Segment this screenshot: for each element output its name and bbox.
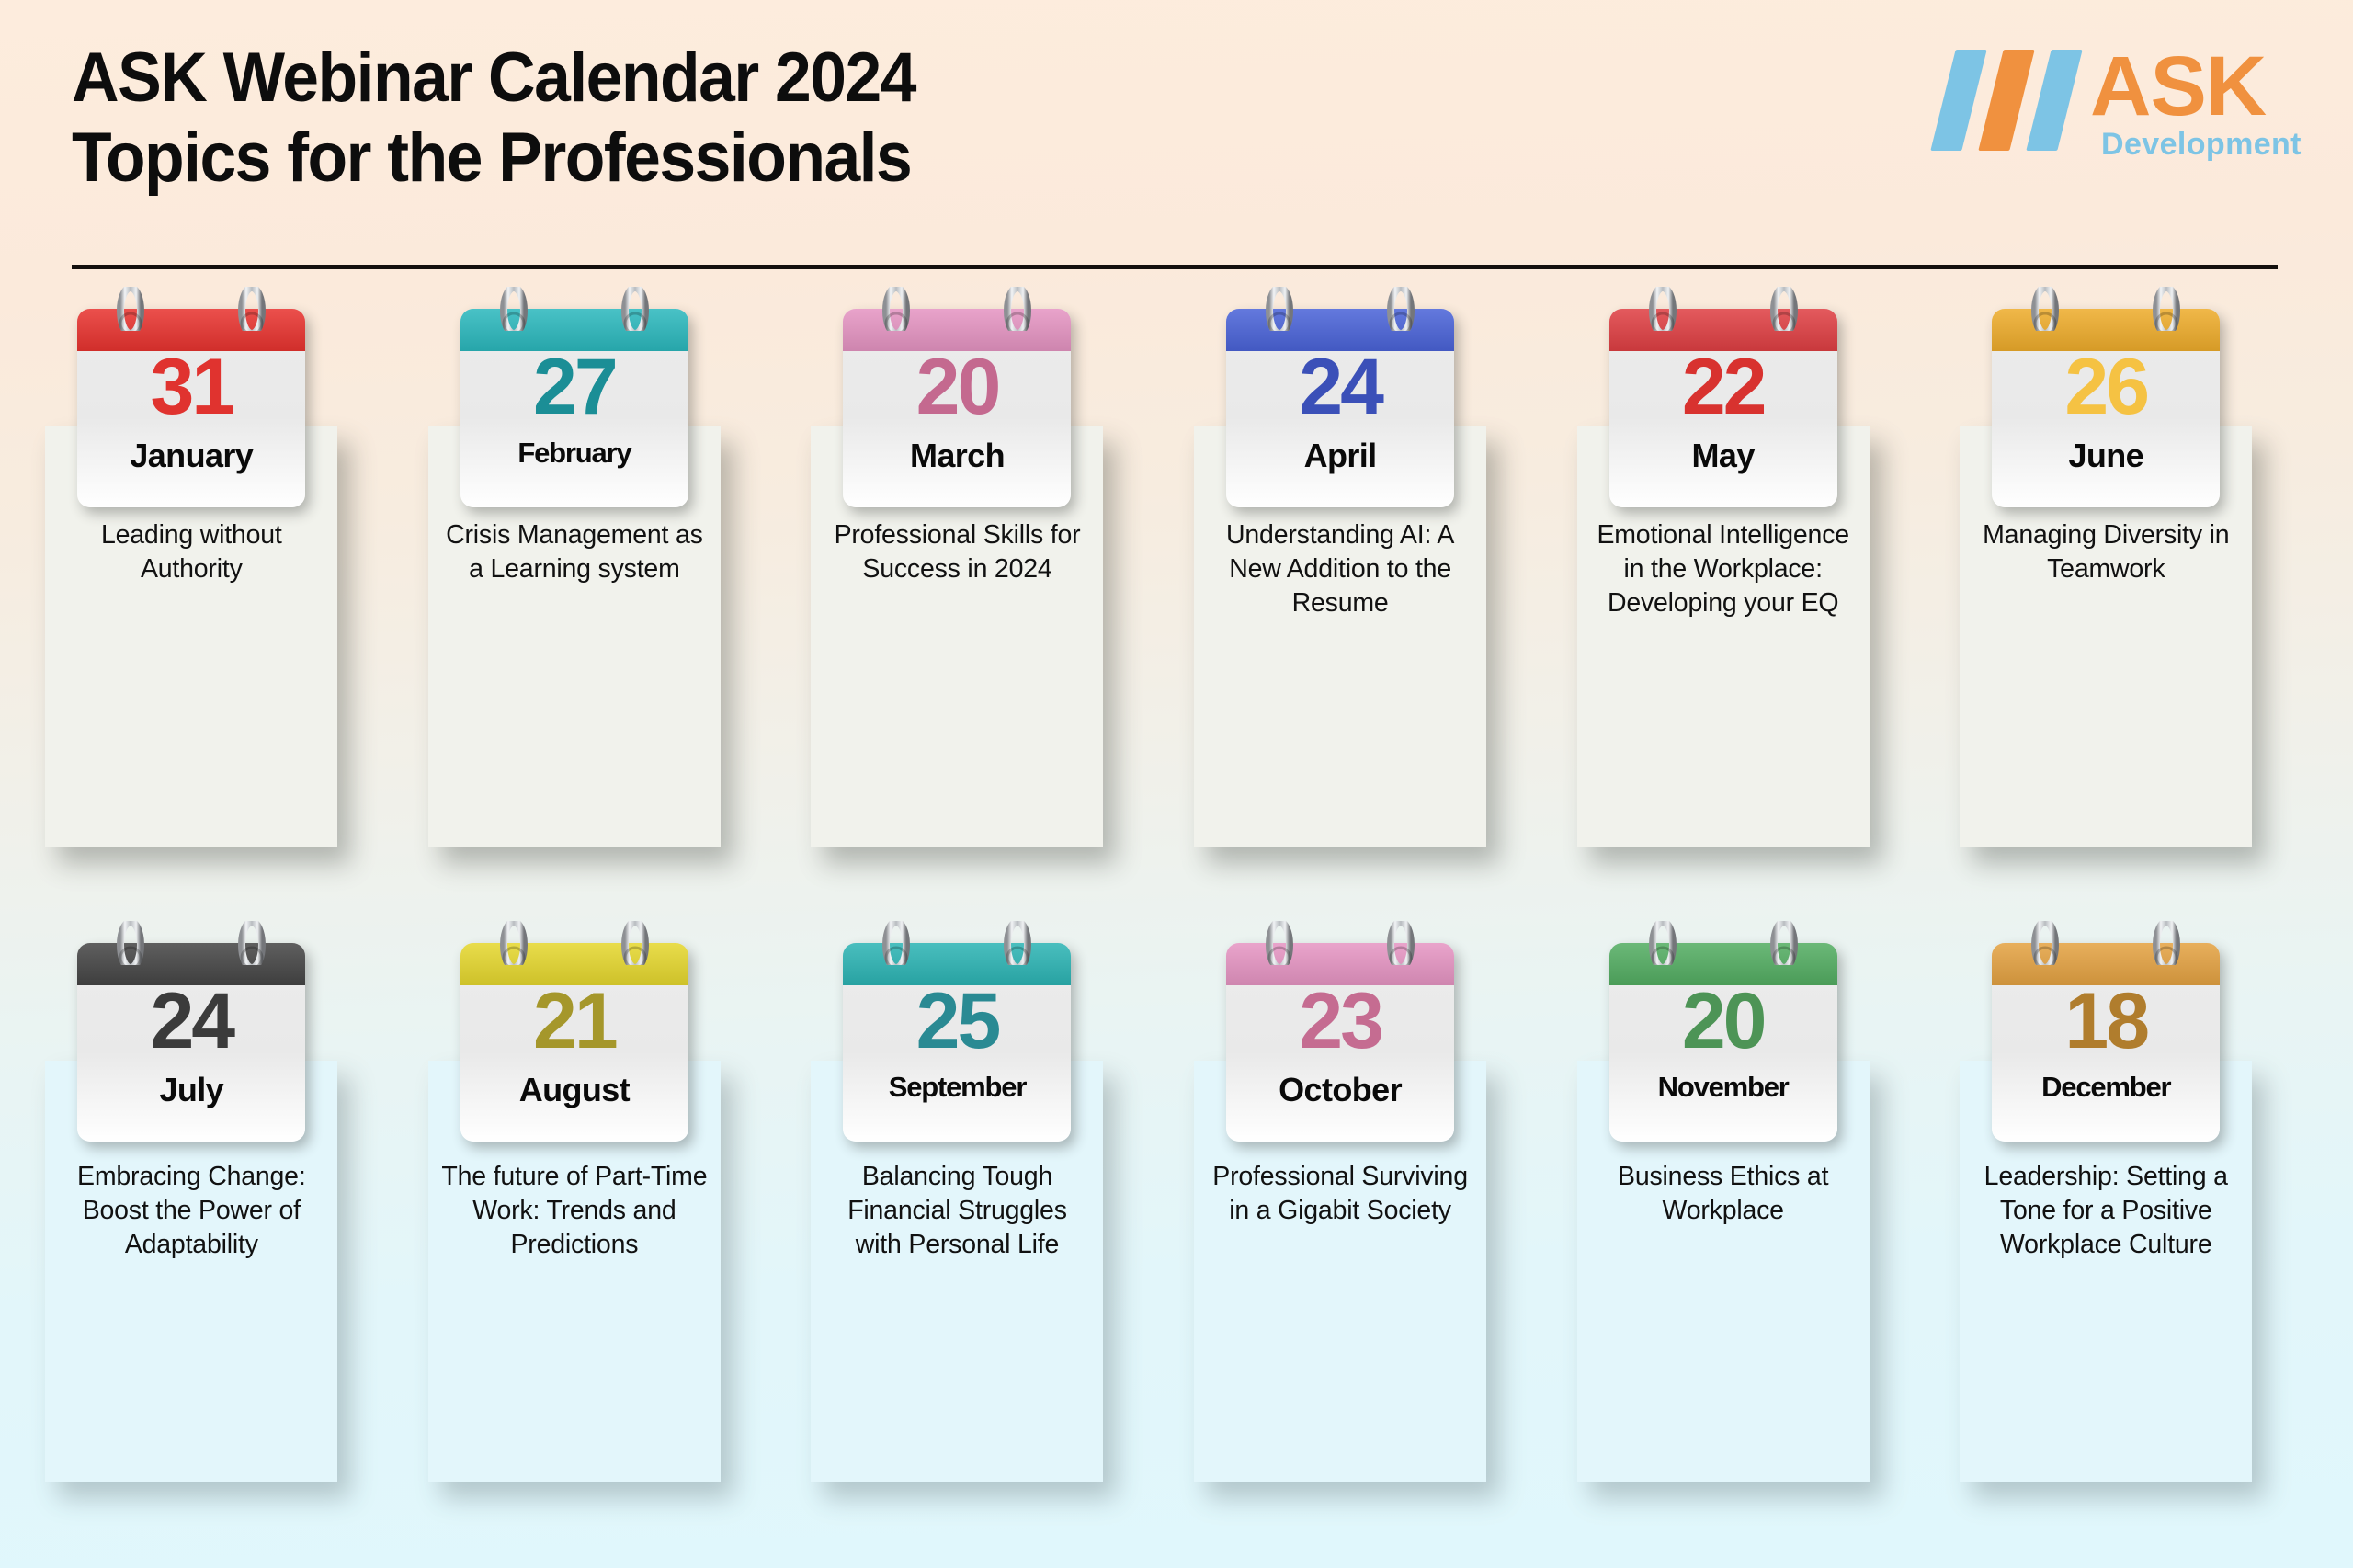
calendar-body: 31 January: [77, 309, 305, 507]
calendar-body: 24 April: [1226, 309, 1454, 507]
topic-text: Crisis Management as a Learning system: [441, 518, 708, 586]
calendar-month-name: January: [77, 437, 305, 474]
calendar-rings: [843, 287, 1071, 331]
calendar-month-cell[interactable]: Professional Surviving in a Gigabit Soci…: [1149, 921, 1532, 1553]
topic-text: Business Ethics at Workplace: [1590, 1160, 1857, 1228]
calendar-icon[interactable]: 26 June: [1992, 287, 2220, 507]
calendar-day-number: 27: [460, 347, 688, 426]
calendar-ring-icon: [1609, 287, 1837, 331]
calendar-rings: [1609, 287, 1837, 331]
calendar-ring-icon: [843, 921, 1071, 965]
calendar-rings: [843, 921, 1071, 965]
logo-slash-2: [1978, 50, 2034, 151]
calendar-rings: [77, 921, 305, 965]
calendar-rings: [1226, 921, 1454, 965]
topic-text: Leading without Authority: [58, 518, 324, 586]
calendar-icon[interactable]: 18 December: [1992, 921, 2220, 1142]
calendar-month-name: May: [1609, 437, 1837, 474]
page-title-line-2: Topics for the Professionals: [72, 119, 1368, 199]
calendar-day-number: 18: [1992, 982, 2220, 1061]
topic-text: Managing Diversity in Teamwork: [1972, 518, 2239, 586]
calendar-day-number: 22: [1609, 347, 1837, 426]
calendar-day-number: 31: [77, 347, 305, 426]
calendar-month-cell[interactable]: Managing Diversity in Teamwork 26 June: [1915, 287, 2298, 919]
calendar-rings: [1992, 287, 2220, 331]
calendar-day-number: 24: [1226, 347, 1454, 426]
page-header: ASK Webinar Calendar 2024 Topics for the…: [0, 0, 2353, 276]
calendar-ring-icon: [1992, 287, 2220, 331]
topic-text: Emotional Intelligence in the Workplace:…: [1590, 518, 1857, 620]
calendar-icon[interactable]: 25 September: [843, 921, 1071, 1142]
topic-text: Professional Skills for Success in 2024: [824, 518, 1090, 586]
calendar-day-number: 24: [77, 982, 305, 1061]
calendar-rings: [460, 287, 688, 331]
calendar-grid: Leading without Authority 31 January: [0, 287, 2353, 1568]
calendar-day-number: 26: [1992, 347, 2220, 426]
calendar-day-number: 20: [843, 347, 1071, 426]
ask-development-logo: ASK Development: [1938, 42, 2296, 167]
calendar-month-name: March: [843, 437, 1071, 474]
calendar-month-name: October: [1226, 1072, 1454, 1108]
calendar-ring-icon: [1992, 921, 2220, 965]
logo-slashes-icon: [1938, 50, 2099, 151]
calendar-month-cell[interactable]: Leading without Authority 31 January: [0, 287, 383, 919]
calendar-body: 27 February: [460, 309, 688, 507]
calendar-icon[interactable]: 20 March: [843, 287, 1071, 507]
logo-tagline-text: Development: [2101, 127, 2302, 163]
calendar-month-name: August: [460, 1072, 688, 1108]
calendar-icon[interactable]: 24 July: [77, 921, 305, 1142]
calendar-icon[interactable]: 24 April: [1226, 287, 1454, 507]
calendar-month-cell[interactable]: Balancing Tough Financial Struggles with…: [766, 921, 1149, 1553]
header-divider: [72, 265, 2278, 269]
page-title: ASK Webinar Calendar 2024 Topics for the…: [72, 39, 1450, 198]
calendar-ring-icon: [843, 287, 1071, 331]
calendar-ring-icon: [460, 287, 688, 331]
calendar-month-name: April: [1226, 437, 1454, 474]
calendar-month-name: September: [843, 1072, 1071, 1103]
calendar-month-cell[interactable]: Emotional Intelligence in the Workplace:…: [1531, 287, 1915, 919]
calendar-body: 18 December: [1992, 943, 2220, 1142]
calendar-month-cell[interactable]: Business Ethics at Workplace 20 November: [1531, 921, 1915, 1553]
calendar-body: 20 November: [1609, 943, 1837, 1142]
topic-text: Professional Surviving in a Gigabit Soci…: [1207, 1160, 1473, 1228]
calendar-body: 25 September: [843, 943, 1071, 1142]
calendar-month-cell[interactable]: Understanding AI: A New Addition to the …: [1149, 287, 1532, 919]
topic-text: Understanding AI: A New Addition to the …: [1207, 518, 1473, 620]
calendar-month-name: February: [460, 437, 688, 469]
calendar-rings: [460, 921, 688, 965]
calendar-month-name: December: [1992, 1072, 2220, 1103]
calendar-ring-icon: [77, 287, 305, 331]
topic-text: Embracing Change: Boost the Power of Ada…: [58, 1160, 324, 1262]
logo-slash-3: [2026, 50, 2082, 151]
calendar-body: 21 August: [460, 943, 688, 1142]
logo-slash-1: [1930, 50, 1986, 151]
calendar-row-1: Leading without Authority 31 January: [0, 287, 2353, 919]
page-title-line-1: ASK Webinar Calendar 2024: [72, 39, 1368, 119]
calendar-ring-icon: [1226, 287, 1454, 331]
calendar-month-name: November: [1609, 1072, 1837, 1103]
calendar-month-cell[interactable]: Crisis Management as a Learning system 2…: [383, 287, 767, 919]
calendar-ring-icon: [1609, 921, 1837, 965]
calendar-body: 24 July: [77, 943, 305, 1142]
calendar-rings: [1226, 287, 1454, 331]
calendar-body: 26 June: [1992, 309, 2220, 507]
calendar-month-cell[interactable]: Embracing Change: Boost the Power of Ada…: [0, 921, 383, 1553]
calendar-ring-icon: [460, 921, 688, 965]
calendar-icon[interactable]: 20 November: [1609, 921, 1837, 1142]
calendar-row-2: Embracing Change: Boost the Power of Ada…: [0, 921, 2353, 1553]
calendar-icon[interactable]: 31 January: [77, 287, 305, 507]
calendar-month-cell[interactable]: Leadership: Setting a Tone for a Positiv…: [1915, 921, 2298, 1553]
calendar-rings: [77, 287, 305, 331]
logo-brand-text: ASK: [2090, 44, 2266, 129]
calendar-day-number: 25: [843, 982, 1071, 1061]
calendar-rings: [1609, 921, 1837, 965]
calendar-icon[interactable]: 21 August: [460, 921, 688, 1142]
calendar-day-number: 20: [1609, 982, 1837, 1061]
calendar-month-name: July: [77, 1072, 305, 1108]
calendar-day-number: 21: [460, 982, 688, 1061]
topic-text: Balancing Tough Financial Struggles with…: [824, 1160, 1090, 1262]
calendar-month-cell[interactable]: The future of Part-Time Work: Trends and…: [383, 921, 767, 1553]
topic-text: Leadership: Setting a Tone for a Positiv…: [1972, 1160, 2239, 1262]
calendar-ring-icon: [77, 921, 305, 965]
calendar-month-name: June: [1992, 437, 2220, 474]
calendar-rings: [1992, 921, 2220, 965]
calendar-body: 23 October: [1226, 943, 1454, 1142]
calendar-body: 22 May: [1609, 309, 1837, 507]
topic-text: The future of Part-Time Work: Trends and…: [441, 1160, 708, 1262]
calendar-icon[interactable]: 27 February: [460, 287, 688, 507]
calendar-month-cell[interactable]: Professional Skills for Success in 2024 …: [766, 287, 1149, 919]
calendar-icon[interactable]: 23 October: [1226, 921, 1454, 1142]
calendar-body: 20 March: [843, 309, 1071, 507]
calendar-day-number: 23: [1226, 982, 1454, 1061]
calendar-icon[interactable]: 22 May: [1609, 287, 1837, 507]
calendar-ring-icon: [1226, 921, 1454, 965]
